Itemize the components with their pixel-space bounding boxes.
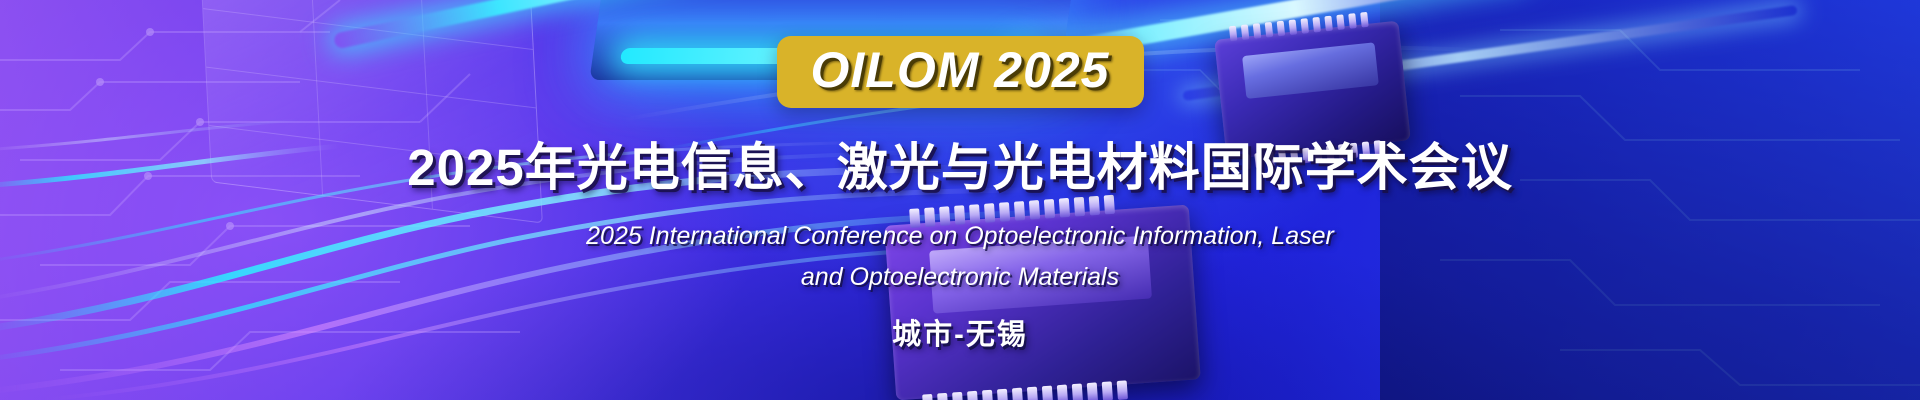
conference-acronym-badge: OILOM 2025 (777, 36, 1144, 108)
conference-acronym-text: OILOM 2025 (811, 42, 1110, 98)
conference-title-english-line1: 2025 International Conference on Optoele… (586, 216, 1334, 257)
conference-city: 城市-无锡 (892, 311, 1028, 353)
banner-content: OILOM 2025 2025年光电信息、激光与光电材料国际学术会议 2025 … (0, 0, 1920, 400)
conference-title-chinese: 2025年光电信息、激光与光电材料国际学术会议 (407, 126, 1512, 200)
conference-banner: OILOM 2025 2025年光电信息、激光与光电材料国际学术会议 2025 … (0, 0, 1920, 400)
conference-title-english-line2: and Optoelectronic Materials (586, 257, 1334, 298)
conference-title-english: 2025 International Conference on Optoele… (586, 216, 1334, 297)
